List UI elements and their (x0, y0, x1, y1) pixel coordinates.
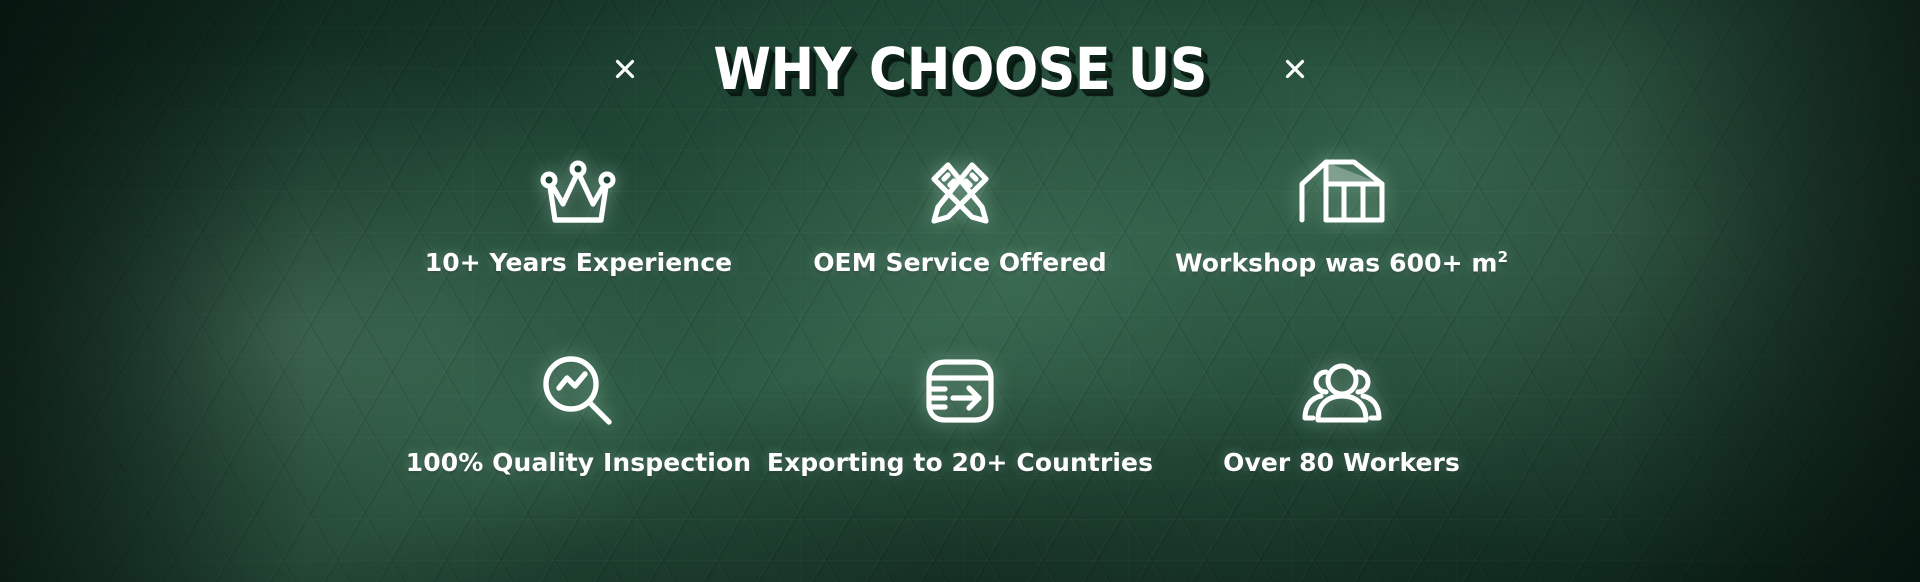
feature-item-quality-inspection: 100% Quality Inspection (390, 350, 767, 550)
export-box-icon (921, 350, 999, 432)
feature-label: Exporting to 20+ Countries (767, 448, 1153, 477)
feature-grid: 10+ Years Experience (390, 150, 1530, 550)
feature-label: OEM Service Offered (813, 248, 1107, 277)
feature-label: Over 80 Workers (1223, 448, 1460, 477)
feature-item-exporting-countries: Exporting to 20+ Countries (767, 350, 1153, 550)
crown-icon (539, 150, 617, 232)
feature-label: 10+ Years Experience (425, 248, 732, 277)
feature-item-oem-service: OEM Service Offered (767, 150, 1153, 350)
crossed-pencils-icon (922, 150, 998, 232)
feature-label: 100% Quality Inspection (406, 448, 751, 477)
feature-item-years-experience: 10+ Years Experience (390, 150, 767, 350)
feature-item-workers-count: Over 80 Workers (1153, 350, 1530, 550)
banner-content: WHY CHOOSE US (0, 0, 1920, 582)
feature-label: Workshop was 600+ m2 (1175, 248, 1508, 277)
people-group-icon (1299, 350, 1385, 432)
magnifier-chart-icon (539, 350, 617, 432)
page-title: WHY CHOOSE US (713, 40, 1207, 98)
sparkle-x-icon-left (610, 54, 640, 84)
feature-item-workshop-area: Workshop was 600+ m2 (1153, 150, 1530, 350)
why-choose-us-banner: WHY CHOOSE US (0, 0, 1920, 582)
sparkle-x-icon-right (1280, 54, 1310, 84)
banner-heading-row: WHY CHOOSE US (0, 40, 1920, 98)
workshop-icon (1296, 150, 1388, 232)
